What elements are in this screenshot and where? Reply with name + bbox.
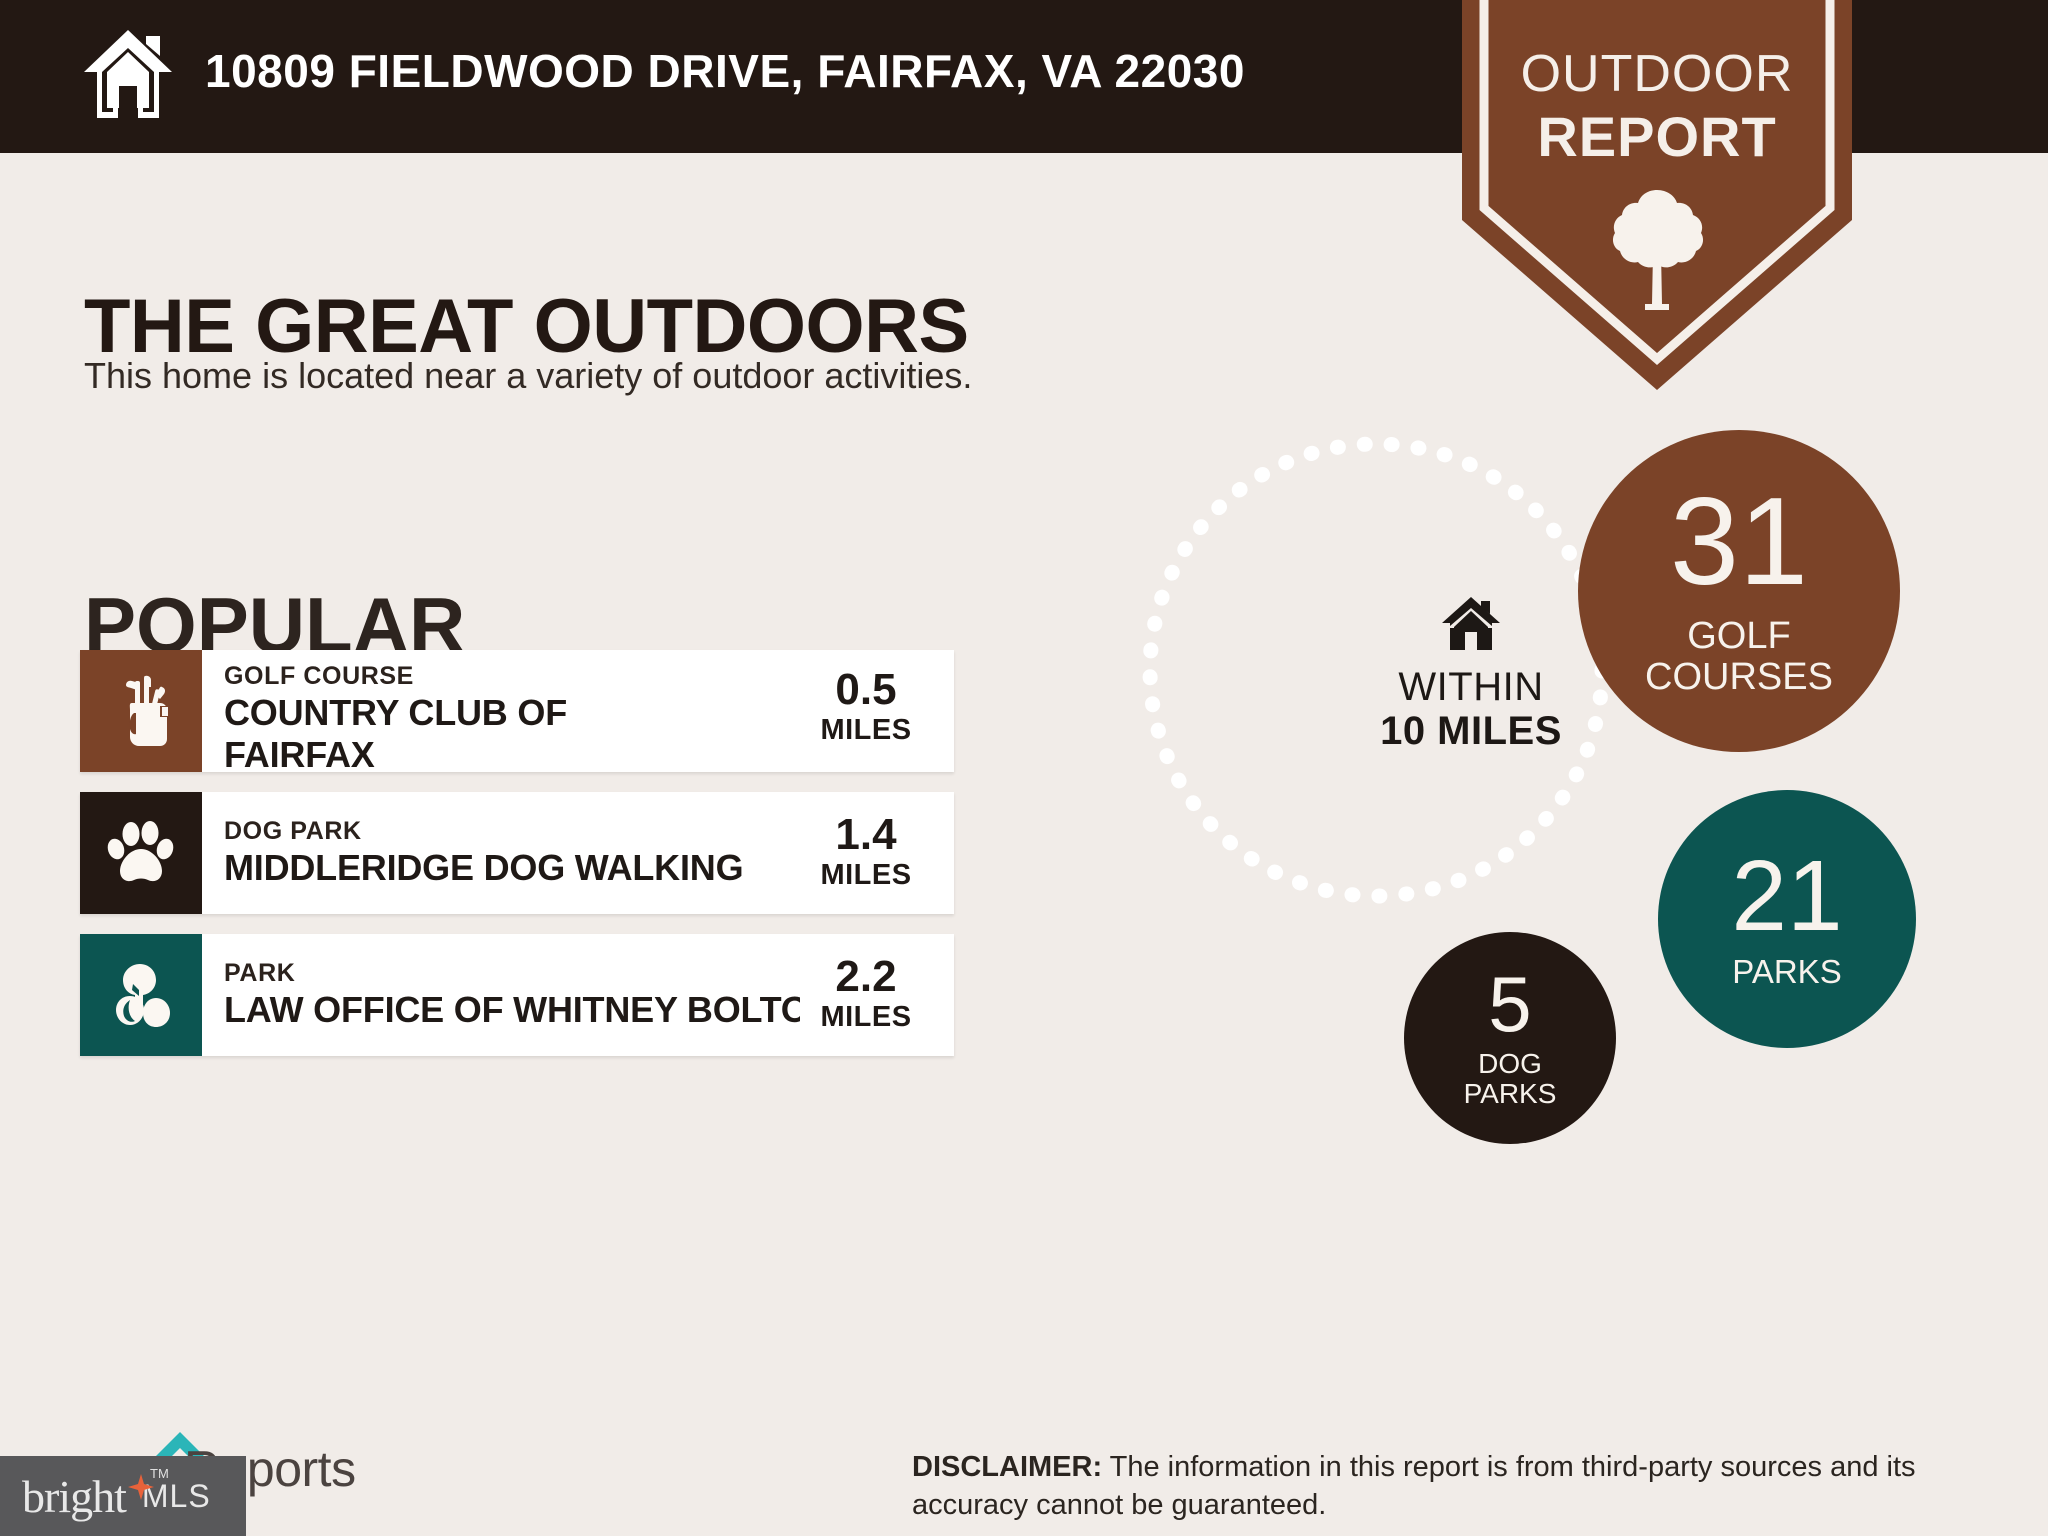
- stat-label: DOG PARKS: [1464, 1049, 1557, 1109]
- list-item[interactable]: GOLF COURSE COUNTRY CLUB OF FAIRFAX 0.5 …: [80, 650, 954, 772]
- poi-icon-box: [80, 650, 202, 772]
- home-icon: [1440, 595, 1502, 653]
- poi-distance-value: 1.4: [835, 813, 896, 857]
- home-icon: [78, 26, 178, 122]
- watermark-brand: bright: [22, 1470, 126, 1523]
- within-label-line-1: WITHIN: [1336, 665, 1606, 709]
- paw-print-icon: [105, 817, 177, 889]
- stat-label: GOLF COURSES: [1645, 616, 1833, 698]
- poi-distance: 0.5 MILES: [800, 650, 954, 772]
- park-trees-icon: [106, 960, 176, 1030]
- badge-line-2: REPORT: [1462, 104, 1852, 169]
- poi-texts: PARK LAW OFFICE OF WHITNEY BOLTON: [202, 934, 800, 1056]
- poi-distance: 1.4 MILES: [800, 792, 954, 914]
- stat-label: PARKS: [1732, 954, 1841, 990]
- poi-name: MIDDLERIDGE DOG WALKING: [224, 847, 800, 889]
- poi-name: LAW OFFICE OF WHITNEY BOLTON: [224, 989, 800, 1031]
- poi-texts: DOG PARK MIDDLERIDGE DOG WALKING: [202, 792, 800, 914]
- stat-value: 5: [1488, 967, 1531, 1041]
- outdoor-report-badge: OUTDOOR REPORT: [1462, 0, 1852, 390]
- watermark-tm: TM: [150, 1466, 169, 1481]
- page-subtitle: This home is located near a variety of o…: [84, 355, 972, 397]
- golf-bag-icon: [110, 673, 172, 749]
- poi-name: COUNTRY CLUB OF FAIRFAX: [224, 692, 654, 773]
- property-address: 10809 FIELDWOOD DRIVE, FAIRFAX, VA 22030: [205, 44, 1245, 98]
- poi-category: PARK: [224, 959, 800, 989]
- stat-label-line-1: PARKS: [1732, 954, 1841, 990]
- stat-label-line-2: COURSES: [1645, 657, 1833, 698]
- stat-circle-parks[interactable]: 21 PARKS: [1658, 790, 1916, 1048]
- poi-texts: GOLF COURSE COUNTRY CLUB OF FAIRFAX: [202, 650, 800, 772]
- poi-icon-box: [80, 792, 202, 914]
- tree-icon: [1607, 186, 1707, 312]
- stat-value: 31: [1670, 484, 1808, 602]
- stat-value: 21: [1731, 849, 1842, 944]
- stat-circle-dog-parks[interactable]: 5 DOG PARKS: [1404, 932, 1616, 1144]
- badge-line-1: OUTDOOR: [1462, 44, 1852, 104]
- poi-distance-value: 0.5: [835, 668, 896, 712]
- poi-category: GOLF COURSE: [224, 662, 800, 692]
- poi-category: DOG PARK: [224, 817, 800, 847]
- poi-distance-unit: MILES: [820, 857, 911, 893]
- poi-icon-box: [80, 934, 202, 1056]
- poi-distance-value: 2.2: [835, 955, 896, 999]
- list-item[interactable]: PARK LAW OFFICE OF WHITNEY BOLTON 2.2 MI…: [80, 934, 954, 1056]
- poi-distance-unit: MILES: [820, 999, 911, 1035]
- amenities-diagram: 31 GOLF COURSES 21 PARKS 5 DOG PARKS: [1080, 430, 1980, 1150]
- disclaimer: DISCLAIMER: The information in this repo…: [912, 1448, 1982, 1525]
- outdoor-report-page: 10809 FIELDWOOD DRIVE, FAIRFAX, VA 22030…: [0, 0, 2048, 1536]
- within-radius-block: WITHIN 10 MILES: [1336, 595, 1606, 753]
- stat-circle-golf-courses[interactable]: 31 GOLF COURSES: [1578, 430, 1900, 752]
- bright-mls-watermark: bright TM MLS: [0, 1456, 246, 1536]
- popular-poi-list: GOLF COURSE COUNTRY CLUB OF FAIRFAX 0.5 …: [80, 650, 954, 1076]
- list-item[interactable]: DOG PARK MIDDLERIDGE DOG WALKING 1.4 MIL…: [80, 792, 954, 914]
- disclaimer-label: DISCLAIMER:: [912, 1451, 1102, 1483]
- poi-distance: 2.2 MILES: [800, 934, 954, 1056]
- stat-label-line-1: DOG: [1464, 1049, 1557, 1079]
- stat-label-line-2: PARKS: [1464, 1079, 1557, 1109]
- poi-distance-unit: MILES: [820, 712, 911, 748]
- stat-label-line-1: GOLF: [1645, 616, 1833, 657]
- within-label-line-2: 10 MILES: [1336, 709, 1606, 753]
